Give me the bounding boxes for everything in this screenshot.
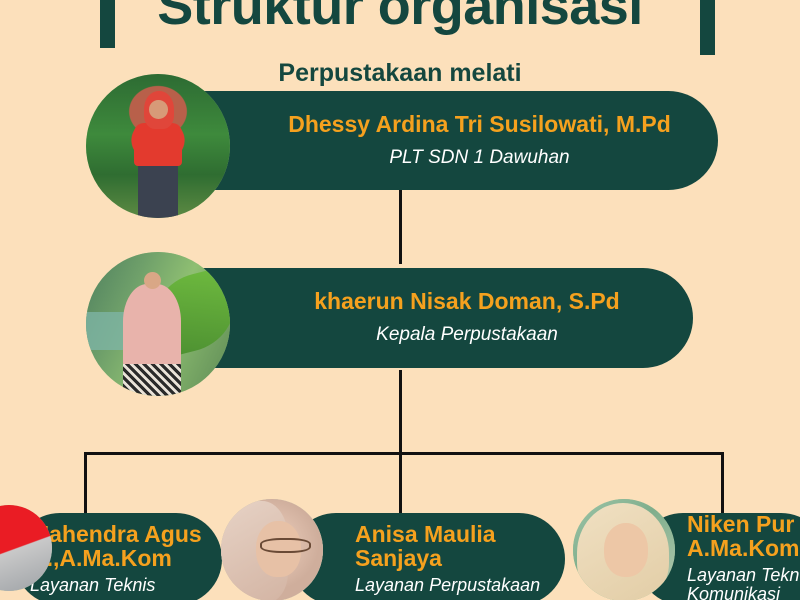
org-node-card-2[interactable]: khaerun Nisak Doman, S.Pd Kepala Perpust… bbox=[155, 268, 693, 368]
org-node-2-avatar bbox=[86, 252, 230, 396]
avatar-2-batik bbox=[123, 364, 181, 396]
connector-bus-to-node5 bbox=[721, 452, 724, 513]
org-node-1-avatar bbox=[86, 74, 230, 218]
avatar-2-gamis bbox=[123, 284, 181, 373]
org-node-5-role-line2: Komunikasi bbox=[687, 584, 780, 600]
org-node-3-name-line1: Mahendra Agus bbox=[30, 521, 202, 547]
connector-level1-to-level2 bbox=[399, 190, 402, 264]
org-node-card-1[interactable]: Dhessy Ardina Tri Susilowati, M.Pd PLT S… bbox=[155, 91, 718, 190]
org-node-4-role: Layanan Perpustakaan bbox=[355, 576, 540, 595]
avatar-3-photo bbox=[0, 505, 52, 591]
avatar-5-face bbox=[604, 523, 649, 576]
org-node-2-name: khaerun Nisak Doman, S.Pd bbox=[314, 290, 619, 314]
avatar-1-top bbox=[134, 123, 183, 166]
avatar-4-glasses bbox=[260, 538, 311, 553]
org-node-4-name: Anisa Maulia Sanjaya bbox=[355, 523, 496, 571]
org-node-3-name: Mahendra Agus H.,A.Ma.Kom bbox=[30, 523, 202, 571]
org-node-3-avatar bbox=[0, 505, 52, 591]
connector-level2-to-bus bbox=[399, 370, 402, 454]
org-node-4-name-line2: Sanjaya bbox=[355, 545, 442, 571]
avatar-1-face bbox=[149, 100, 168, 119]
org-node-5-name-line2: A.Ma.Kom bbox=[687, 535, 799, 561]
org-node-4-avatar bbox=[221, 499, 323, 600]
connector-horizontal-bus bbox=[84, 452, 724, 455]
page-title: Struktur organisasi bbox=[157, 0, 643, 39]
org-node-5-role: Layanan Tekno Komunikasi bbox=[687, 566, 800, 600]
page-title-row: Struktur organisasi bbox=[0, 0, 800, 42]
org-node-card-4[interactable]: Anisa Maulia Sanjaya Layanan Perpustakaa… bbox=[290, 513, 565, 600]
org-node-1-name: Dhessy Ardina Tri Susilowati, M.Pd bbox=[288, 113, 671, 137]
org-node-2-role: Kepala Perpustakaan bbox=[376, 325, 558, 346]
connector-bus-to-node4 bbox=[399, 452, 402, 513]
org-chart-canvas: Struktur organisasi Perpustakaan melati … bbox=[0, 0, 800, 600]
org-node-5-avatar bbox=[573, 499, 675, 600]
org-node-4-name-line1: Anisa Maulia bbox=[355, 521, 496, 547]
org-node-5-name-line1: Niken Pur bbox=[687, 511, 794, 537]
org-node-5-name: Niken Pur A.Ma.Kom bbox=[687, 513, 799, 561]
org-node-5-role-line1: Layanan Tekno bbox=[687, 565, 800, 585]
connector-bus-to-node3 bbox=[84, 452, 87, 513]
org-node-1-role: PLT SDN 1 Dawuhan bbox=[389, 148, 569, 169]
avatar-1-skirt bbox=[138, 160, 178, 218]
